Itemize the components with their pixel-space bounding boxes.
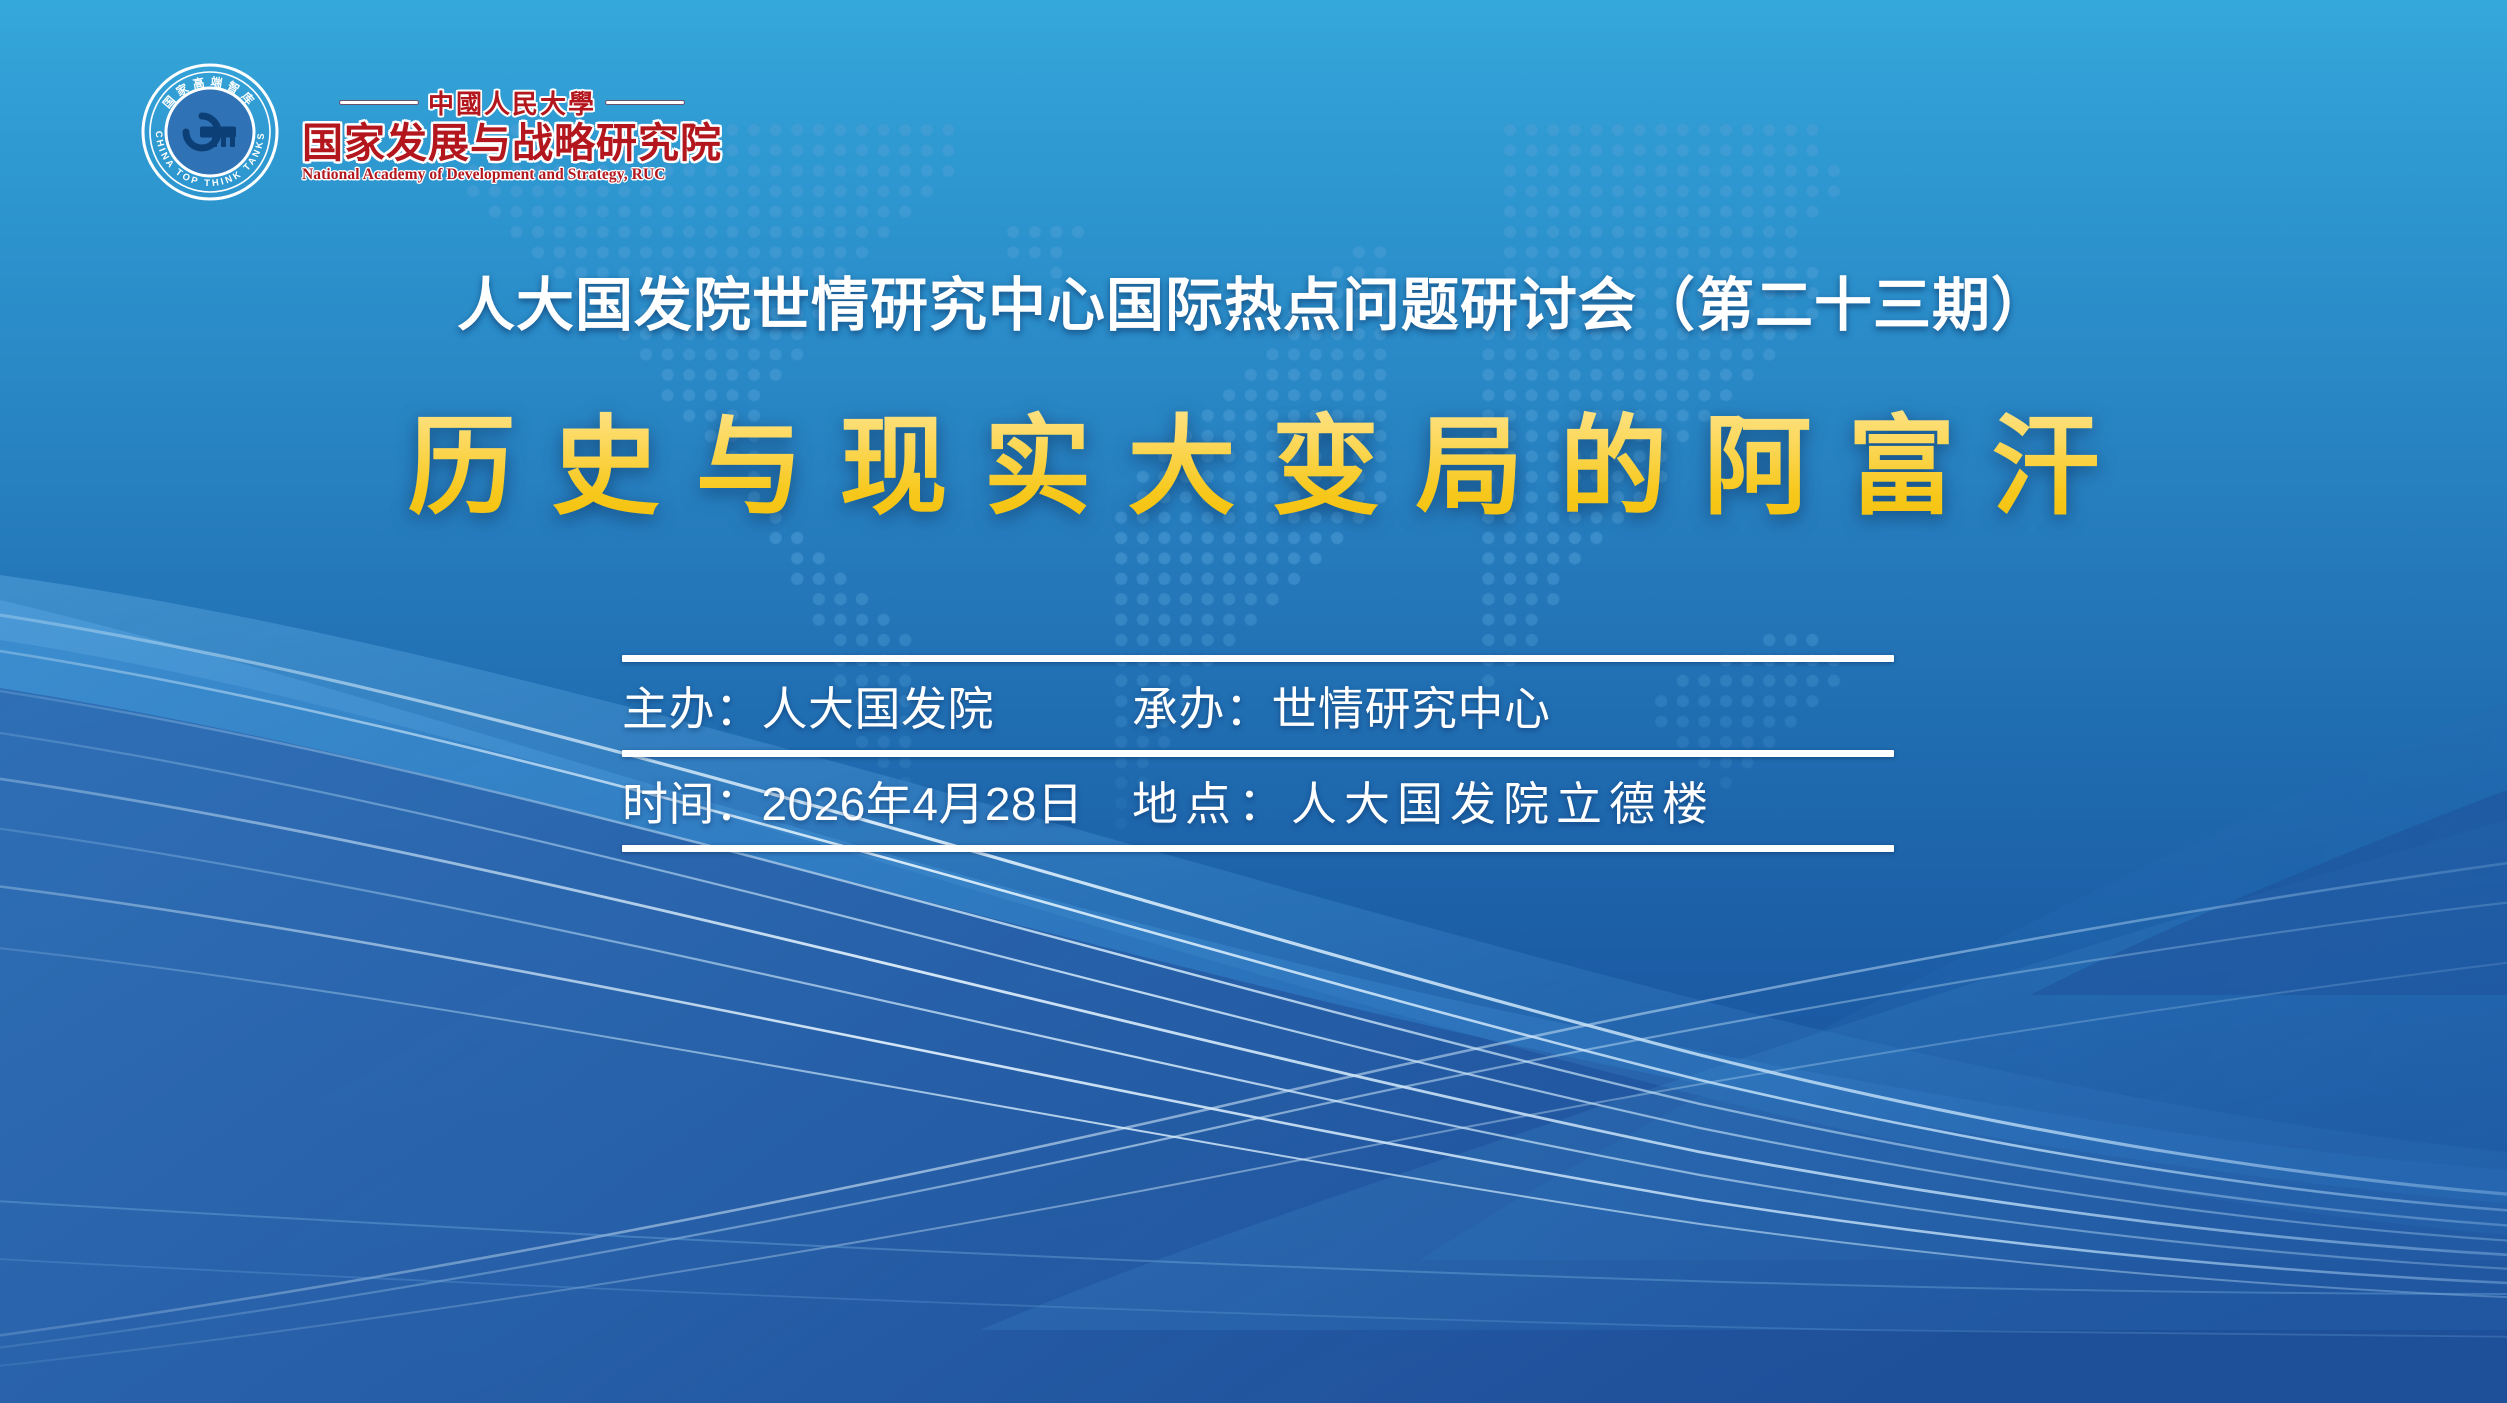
university-name: 中國人民大學 [428,84,596,121]
details-row-hosts: 主办：人大国发院 承办：世情研究中心 [622,662,1894,750]
time-text: 时间：2026年4月28日 [622,768,1132,834]
details-row-time-place: 时间：2026年4月28日 地点：人大国发院立德楼 [622,757,1894,845]
poster-canvas: 国家高端智库 CHINA TOP THINK TANKS 中國人民大學 国家发展… [0,0,2507,1403]
institute-wordmark: 中國人民大學 国家发展与战略研究院 National Academy of De… [302,84,722,184]
rule-right [606,101,684,104]
organizer-text: 承办：世情研究中心 [1132,673,1894,739]
host-text: 主办：人大国发院 [622,673,1132,739]
place-text: 地点：人大国发院立德楼 [1132,768,1894,834]
divider-top [622,655,1894,662]
china-top-think-tanks-seal-icon: 国家高端智库 CHINA TOP THINK TANKS [140,62,280,202]
rule-left [340,101,418,104]
institute-name-cn: 国家发展与战略研究院 [302,122,722,165]
event-series-subtitle: 人大国发院世情研究中心国际热点问题研讨会（第二十三期） [0,258,2507,342]
institute-name-en: National Academy of Development and Stra… [302,166,722,184]
university-line: 中國人民大學 [302,84,722,121]
logo-block: 国家高端智库 CHINA TOP THINK TANKS 中國人民大學 国家发展… [140,62,722,202]
event-details-panel: 主办：人大国发院 承办：世情研究中心 时间：2026年4月28日 地点：人大国发… [622,655,1894,852]
divider-middle [622,750,1894,757]
page-title: 历史与现实大变局的阿富汗 [0,380,2507,536]
divider-bottom [622,845,1894,852]
